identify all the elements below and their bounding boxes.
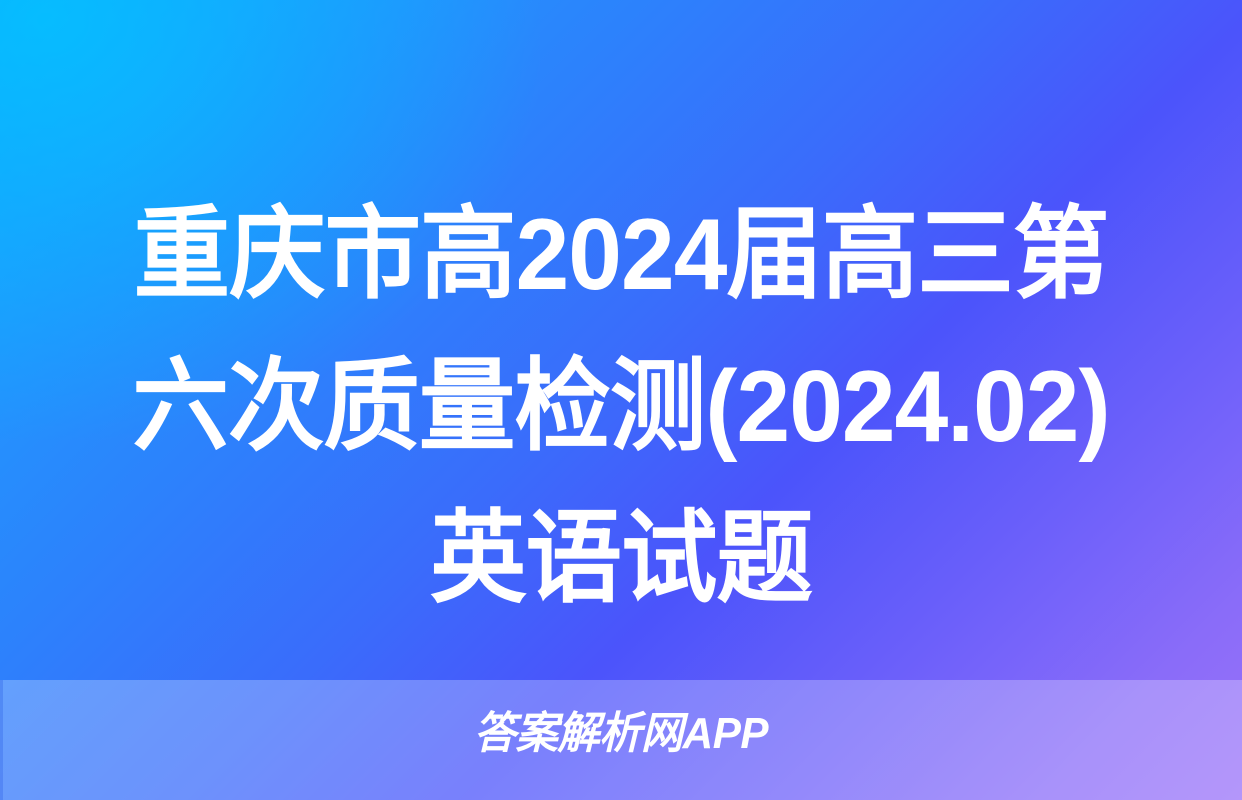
band-left-edge-strip: [0, 680, 3, 800]
title-line-3: 英语试题: [28, 483, 1214, 635]
watermark-app-branding: 答案解析网APP: [25, 709, 1217, 759]
page-title: 重庆市高2024届高三第 六次质量检测(2024.02) 英语试题: [0, 179, 1242, 635]
exam-title-banner: 重庆市高2024届高三第 六次质量检测(2024.02) 英语试题 答案解析网A…: [0, 0, 1242, 800]
title-line-2: 六次质量检测(2024.02): [28, 331, 1214, 483]
title-line-1: 重庆市高2024届高三第: [28, 179, 1214, 331]
